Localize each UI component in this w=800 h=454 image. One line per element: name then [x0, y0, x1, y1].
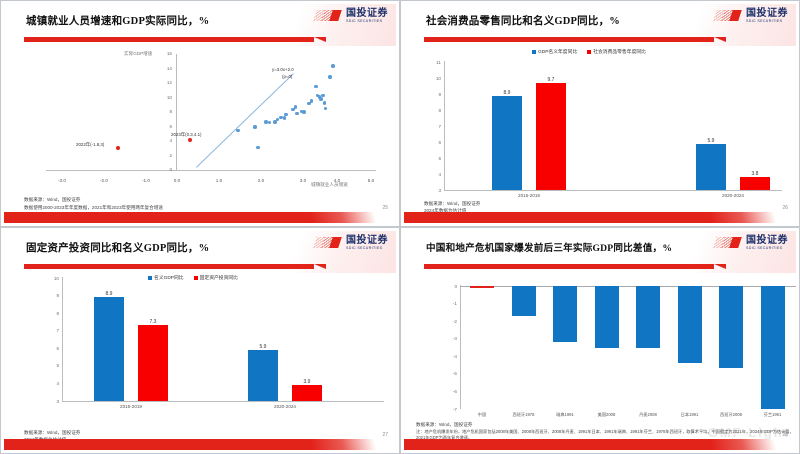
scatter-point — [310, 99, 314, 103]
scatter-point — [253, 125, 257, 129]
footer-bar — [4, 212, 396, 223]
trend-line — [196, 73, 294, 167]
scatter-point — [268, 121, 272, 125]
y-tick-label: 5 — [426, 156, 441, 161]
bar-value-label: 5.9 — [248, 344, 278, 350]
scatter-point — [294, 105, 298, 109]
category-label: 丹麦2008 — [626, 412, 670, 418]
scatter-point-highlight — [116, 146, 120, 150]
scatter-point — [323, 101, 327, 105]
scatter-point — [319, 97, 323, 101]
bar — [719, 286, 743, 368]
zero-line — [460, 286, 796, 287]
bar — [94, 297, 124, 401]
slide-4: 中国和地产危机国家爆发前后三年实际GDP同比差值，% 国投证券 SDIC SEC… — [400, 227, 800, 454]
y-axis-line — [444, 61, 445, 190]
category-label: 2020-2024 — [686, 193, 780, 198]
y-tick-label: 6 — [44, 346, 59, 351]
y-tick-label: 7 — [44, 328, 59, 333]
scatter-point — [328, 75, 332, 79]
scatter-point — [295, 112, 299, 116]
bar — [470, 286, 494, 288]
trend-pvalue-label: (p=0) — [282, 74, 292, 79]
y-axis-line — [176, 54, 177, 170]
scatter-point — [283, 116, 287, 120]
slide-3: 固定资产投资同比和名义GDP同比，% 国投证券 SDIC SECURITIES … — [0, 227, 400, 454]
source-note: 数据来源：Wind，国投证券 — [24, 196, 80, 203]
y-tick-label: 10 — [426, 76, 441, 81]
x-axis-line — [62, 401, 384, 402]
bar — [696, 144, 726, 190]
scatter-point-highlight — [188, 138, 192, 142]
scatter-point — [314, 85, 318, 89]
page-number: 26 — [782, 205, 788, 211]
footer-bar — [404, 439, 796, 450]
scatter-point — [236, 129, 240, 133]
scatter-point — [321, 94, 325, 98]
y-tick-label: 11 — [426, 60, 441, 65]
y-tick-label: 7 — [426, 124, 441, 129]
bar — [595, 286, 619, 348]
page-number: 25 — [382, 205, 388, 211]
y-axis-line — [460, 285, 461, 409]
category-label: 西班牙1978 — [502, 412, 546, 418]
y-tick-label: 9 — [44, 293, 59, 298]
bar-chart: 109876543 8.97.35.93.9 2015-20192020-202… — [4, 231, 396, 431]
footer-bar — [404, 212, 796, 223]
bar-value-label: 8.9 — [492, 90, 522, 96]
bar — [248, 350, 278, 401]
bar-chart: 11109876543 8.99.75.93.8 2015-20192020-2… — [404, 4, 796, 204]
category-label: 瑞典1991 — [543, 412, 587, 418]
y-tick-label: 8 — [426, 108, 441, 113]
bar — [536, 83, 566, 190]
bar-value-label: 9.7 — [536, 77, 566, 83]
y-tick-label: 4 — [44, 381, 59, 386]
bar — [138, 325, 168, 401]
slide-1: 城镇就业人员增速和GDP实际同比，% 国投证券 SDIC SECURITIES … — [0, 0, 400, 227]
y-tick-label: -4 — [442, 354, 457, 359]
y-axis-line — [62, 277, 63, 401]
bar — [740, 177, 770, 190]
category-label: 中国 — [460, 412, 504, 418]
y-axis-title: 实际GDP增速 — [124, 51, 152, 57]
y-tick-label: 3 — [426, 188, 441, 193]
category-label: 2020-2024 — [238, 404, 332, 409]
scatter-chart: 实际GDP增速 城镇就业人员增速 16 14 12 10 8 6 4 2 0 — [4, 4, 396, 204]
y-tick-label: -3 — [442, 336, 457, 341]
y-tick-label: 0 — [442, 284, 457, 289]
scatter-point — [284, 113, 288, 117]
bar-value-label: 5.9 — [696, 138, 726, 144]
category-label: 2015-2019 — [84, 404, 178, 409]
y-tick-label: -1 — [442, 301, 457, 306]
annotation-2022: 2022年(-1.8,3) — [76, 142, 104, 148]
x-axis-line — [444, 190, 782, 191]
bar-chart: 0-1-2-3-4-5-6-7 中国西班牙1978瑞典1991美国2008丹麦2… — [404, 231, 796, 431]
category-label: 日本1991 — [668, 412, 712, 418]
annotation-2023: 2023年(0.3,4.1) — [171, 132, 202, 138]
category-label: 芬兰1991 — [751, 412, 795, 418]
scatter-point — [324, 107, 328, 111]
category-label: 美国2008 — [585, 412, 629, 418]
bar — [292, 385, 322, 401]
bar-value-label: 3.9 — [292, 379, 322, 385]
scatter-point — [302, 110, 306, 114]
page-number: 28 — [782, 432, 788, 438]
y-tick-label: -5 — [442, 371, 457, 376]
bar-value-label: 7.3 — [138, 319, 168, 325]
category-label: 2015-2019 — [482, 193, 576, 198]
y-tick-label: 4 — [426, 172, 441, 177]
y-tick-label: 9 — [426, 92, 441, 97]
y-tick-label: 6 — [426, 140, 441, 145]
bar — [678, 286, 702, 363]
y-tick-label: -2 — [442, 319, 457, 324]
y-tick-label: -7 — [442, 407, 457, 412]
y-tick-label: 8 — [44, 311, 59, 316]
bar — [761, 286, 785, 409]
y-tick-label: 3 — [44, 399, 59, 404]
scatter-point — [256, 146, 260, 150]
bar — [492, 96, 522, 190]
slide-grid: 城镇就业人员增速和GDP实际同比，% 国投证券 SDIC SECURITIES … — [0, 0, 800, 454]
page-number: 27 — [382, 432, 388, 438]
bar-value-label: 8.9 — [94, 291, 124, 297]
source-note: 数据来源：Wind，国投证券 — [416, 421, 472, 428]
category-label: 西班牙2008 — [709, 412, 753, 418]
trend-equation-label: y=3.0x+2.0 — [272, 67, 294, 72]
y-tick-label: 5 — [44, 363, 59, 368]
y-tick-label: 10 — [44, 276, 59, 281]
bar — [636, 286, 660, 348]
slide-2: 社会消费品零售同比和名义GDP同比，% 国投证券 SDIC SECURITIES… — [400, 0, 800, 227]
bar — [553, 286, 577, 342]
scatter-point — [331, 64, 335, 68]
footer-bar — [4, 439, 396, 450]
bar — [512, 286, 536, 316]
x-axis-line — [46, 170, 376, 171]
y-tick-label: -6 — [442, 389, 457, 394]
bar-value-label: 3.8 — [740, 171, 770, 177]
data-note: 数据使用2000-2023年年度数据，2021年和2023年使用两年复合增速 — [24, 204, 163, 211]
